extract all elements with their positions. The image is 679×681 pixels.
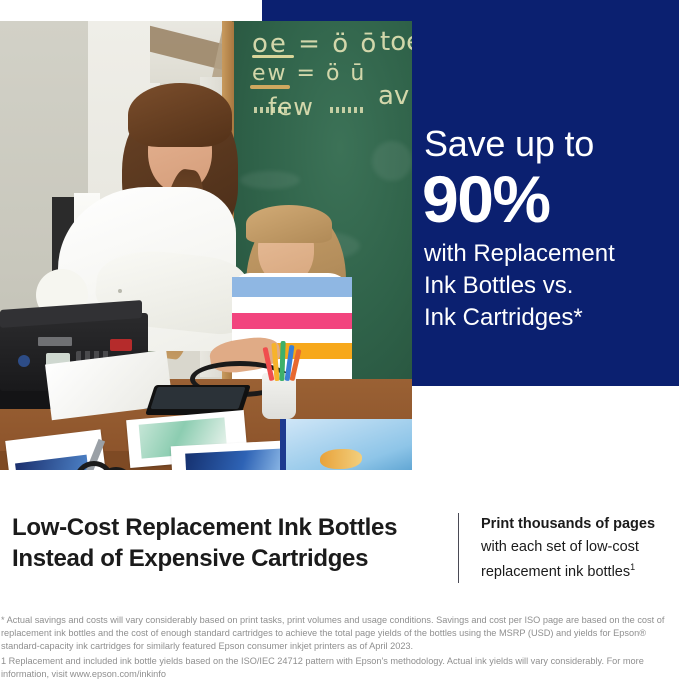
side-callout-line-3: replacement ink bottles1 — [481, 560, 676, 584]
lifestyle-photo: oe = ö ō ew = ö ū few toe av — [0, 21, 412, 470]
promo-subtext-line-1: with Replacement — [424, 238, 615, 270]
girl-shirt-stripe-1 — [232, 277, 352, 297]
promo-eyebrow: Save up to — [424, 126, 594, 162]
chalkboard-line-5: av — [378, 81, 409, 111]
footnote-asterisk: * Actual savings and costs will vary con… — [1, 614, 677, 653]
promo-subtext: with Replacement Ink Bottles vs. Ink Car… — [424, 238, 615, 334]
promo-savings-percent: 90% — [422, 166, 550, 232]
side-callout: Print thousands of pages with each set o… — [481, 513, 676, 584]
printer-sticker — [110, 339, 132, 351]
tablet-screen — [150, 387, 245, 409]
chalk-smudge-2 — [240, 171, 300, 189]
page-headline: Low-Cost Replacement Ink Bottles Instead… — [12, 513, 437, 574]
page-headline-line-2: Instead of Expensive Cartridges — [12, 544, 437, 575]
girl-shirt-stripe-2 — [232, 297, 352, 313]
vertical-divider — [458, 513, 459, 583]
blouse-button-1 — [118, 289, 122, 293]
chalkboard-underline-1 — [252, 55, 294, 58]
printer-brand-logo — [38, 337, 72, 346]
artwork-fish — [320, 449, 362, 469]
promo-banner: oe = ö ō ew = ö ū few toe av — [0, 0, 679, 681]
side-callout-bold: Print thousands of pages — [481, 513, 676, 536]
page-headline-line-1: Low-Cost Replacement Ink Bottles — [12, 513, 437, 544]
promo-subtext-line-2: Ink Bottles vs. — [424, 270, 615, 302]
chalk-squiggle-left — [254, 107, 288, 113]
woman-hair — [128, 83, 232, 147]
side-callout-line-2: with each set of low-cost — [481, 536, 676, 559]
footnote-one: 1 Replacement and included ink bottle yi… — [1, 655, 677, 681]
girl-shirt-stripe-3 — [232, 313, 352, 329]
side-callout-footnote-marker: 1 — [630, 562, 635, 572]
promo-subtext-line-3: Ink Cartridges* — [424, 302, 615, 334]
chalkboard-line-4: toe — [380, 27, 412, 57]
side-callout-line-3-text: replacement ink bottles — [481, 564, 630, 580]
girl-fringe — [246, 205, 332, 243]
chalk-squiggle-right — [330, 107, 364, 113]
printer-power-button — [18, 355, 30, 367]
chalkboard-line-2: ew = ö ū — [252, 61, 366, 86]
chalk-smudge-1 — [372, 141, 412, 181]
chalkboard-underline-2 — [250, 85, 290, 89]
